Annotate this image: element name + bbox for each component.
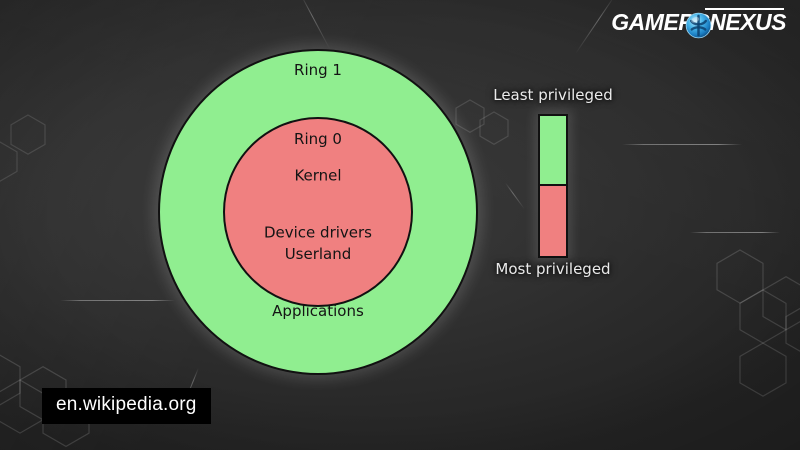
gamers-nexus-logo: GAMERS NEXUS: [611, 6, 786, 38]
legend-most-privileged-label: Most privileged: [495, 260, 610, 278]
ring1-label: Ring 1: [160, 61, 476, 80]
privilege-legend-bar: [538, 114, 568, 258]
kernel-label-line1: Kernel: [225, 166, 411, 185]
userland-label-group: Userland Applications: [160, 207, 476, 359]
logo-word-nexus: NEXUS: [709, 11, 786, 34]
logo-emblem-icon: [685, 12, 712, 39]
legend-swatch-least: [540, 116, 566, 186]
userland-label-line1: Userland: [160, 245, 476, 264]
legend-least-privileged-label: Least privileged: [493, 86, 613, 104]
logo-wordmark: GAMERS NEXUS: [611, 11, 786, 34]
screenshot-canvas: Ring 1 Ring 0 Kernel Device drivers User…: [0, 0, 800, 450]
source-url-banner: en.wikipedia.org: [42, 388, 211, 424]
legend-swatch-most: [540, 186, 566, 256]
userland-label-line2: Applications: [160, 302, 476, 321]
ring-outer-userland: Ring 1 Ring 0 Kernel Device drivers User…: [158, 49, 478, 375]
